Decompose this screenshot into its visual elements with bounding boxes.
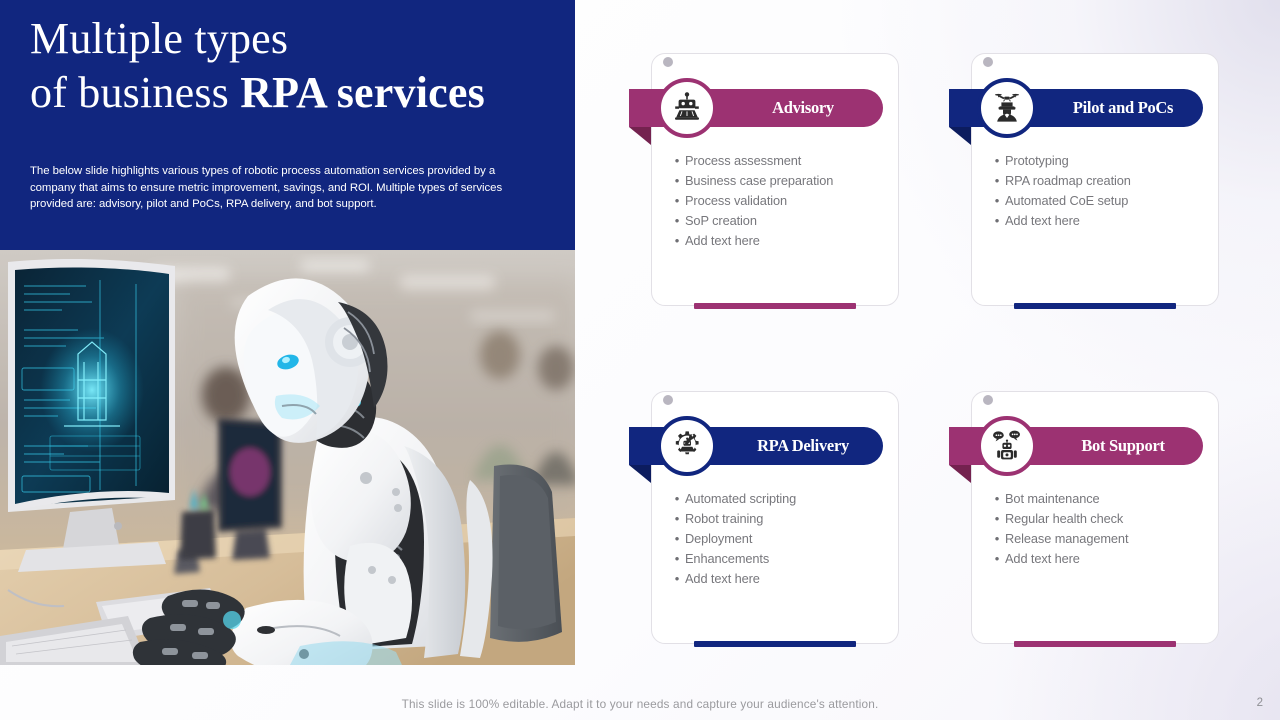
bullet-label: Prototyping bbox=[1005, 151, 1069, 170]
ribbon-fold bbox=[949, 127, 971, 145]
bullet-glyph: • bbox=[669, 191, 685, 210]
bullet-glyph: • bbox=[989, 509, 1005, 528]
card-bot-support[interactable]: Bot Support bbox=[971, 391, 1221, 656]
list-item: •Deployment bbox=[669, 529, 885, 548]
bullet-glyph: • bbox=[669, 489, 685, 508]
bullet-label: Process assessment bbox=[685, 151, 801, 170]
bullet-label: Add text here bbox=[685, 569, 760, 588]
list-item: •Process assessment bbox=[669, 151, 885, 170]
bullet-label: Robot training bbox=[685, 509, 763, 528]
bullet-label: Add text here bbox=[685, 231, 760, 250]
bullet-label: Process validation bbox=[685, 191, 787, 210]
bullet-glyph: • bbox=[989, 211, 1005, 230]
card-corner-dot bbox=[663, 395, 673, 405]
list-item: •Automated scripting bbox=[669, 489, 885, 508]
chat-robot-icon bbox=[977, 416, 1037, 476]
slide-subtitle: The below slide highlights various types… bbox=[30, 163, 542, 213]
card-rpa-delivery[interactable]: RPA Delivery bbox=[651, 391, 901, 656]
list-item: •Release management bbox=[989, 529, 1205, 548]
bullet-label: Add text here bbox=[1005, 211, 1080, 230]
list-item: •SoP creation bbox=[669, 211, 885, 230]
page-title: Multiple types of business RPA services bbox=[30, 12, 550, 120]
list-item: •Add text here bbox=[989, 549, 1205, 568]
list-item: •Add text here bbox=[669, 231, 885, 250]
ribbon-fold bbox=[949, 465, 971, 483]
card-advisory[interactable]: Advisory bbox=[651, 53, 901, 318]
bullet-glyph: • bbox=[989, 171, 1005, 190]
card-pilot-and-pocs-title: Pilot and PoCs bbox=[1043, 89, 1203, 127]
card-accent-bar bbox=[694, 641, 856, 647]
bullet-glyph: • bbox=[989, 549, 1005, 568]
bullet-label: Add text here bbox=[1005, 549, 1080, 568]
list-item: •Add text here bbox=[669, 569, 885, 588]
card-accent-bar bbox=[694, 303, 856, 309]
bullet-label: Bot maintenance bbox=[1005, 489, 1100, 508]
card-bot-support-bullets: •Bot maintenance •Regular health check •… bbox=[989, 489, 1205, 569]
bullet-label: Release management bbox=[1005, 529, 1128, 548]
robot-workstation-photo bbox=[0, 250, 575, 665]
bullet-label: Automated scripting bbox=[685, 489, 796, 508]
card-corner-dot bbox=[663, 57, 673, 67]
bullet-label: SoP creation bbox=[685, 211, 757, 230]
pilot-drone-icon bbox=[977, 78, 1037, 138]
bullet-glyph: • bbox=[989, 191, 1005, 210]
list-item: •Robot training bbox=[669, 509, 885, 528]
title-line-2: of business RPA services bbox=[30, 66, 550, 120]
list-item: •Add text here bbox=[989, 211, 1205, 230]
card-pilot-and-pocs[interactable]: Pilot and PoCs bbox=[971, 53, 1221, 318]
title-line-1: Multiple types bbox=[30, 14, 288, 63]
footer-note: This slide is 100% editable. Adapt it to… bbox=[0, 697, 1280, 711]
bullet-label: Business case preparation bbox=[685, 171, 833, 190]
slide-root: Multiple types of business RPA services … bbox=[0, 0, 1280, 720]
list-item: •RPA roadmap creation bbox=[989, 171, 1205, 190]
bullet-glyph: • bbox=[669, 509, 685, 528]
card-corner-dot bbox=[983, 57, 993, 67]
robot-icon bbox=[657, 78, 717, 138]
card-rpa-delivery-title: RPA Delivery bbox=[723, 427, 883, 465]
bullet-label: Automated CoE setup bbox=[1005, 191, 1128, 210]
bullet-glyph: • bbox=[669, 569, 685, 588]
list-item: •Bot maintenance bbox=[989, 489, 1205, 508]
ribbon-fold bbox=[629, 127, 651, 145]
list-item: •Automated CoE setup bbox=[989, 191, 1205, 210]
bullet-glyph: • bbox=[669, 211, 685, 230]
ribbon-fold bbox=[629, 465, 651, 483]
title-line-2-bold: RPA services bbox=[240, 68, 485, 117]
title-line-2-plain: of business bbox=[30, 68, 240, 117]
bullet-glyph: • bbox=[669, 529, 685, 548]
bullet-glyph: • bbox=[669, 231, 685, 250]
list-item: •Enhancements bbox=[669, 549, 885, 568]
list-item: •Prototyping bbox=[989, 151, 1205, 170]
list-item: •Regular health check bbox=[989, 509, 1205, 528]
list-item: •Process validation bbox=[669, 191, 885, 210]
card-rpa-delivery-bullets: •Automated scripting •Robot training •De… bbox=[669, 489, 885, 589]
bullet-label: Enhancements bbox=[685, 549, 769, 568]
list-item: •Business case preparation bbox=[669, 171, 885, 190]
bullet-label: Deployment bbox=[685, 529, 752, 548]
bullet-glyph: • bbox=[669, 171, 685, 190]
bullet-glyph: • bbox=[669, 549, 685, 568]
bullet-label: Regular health check bbox=[1005, 509, 1123, 528]
card-advisory-bullets: •Process assessment •Business case prepa… bbox=[669, 151, 885, 251]
bullet-glyph: • bbox=[989, 529, 1005, 548]
gear-robot-icon bbox=[657, 416, 717, 476]
bullet-glyph: • bbox=[989, 151, 1005, 170]
page-number: 2 bbox=[1257, 697, 1263, 709]
bullet-label: RPA roadmap creation bbox=[1005, 171, 1131, 190]
card-corner-dot bbox=[983, 395, 993, 405]
card-bot-support-title: Bot Support bbox=[1043, 427, 1203, 465]
title-panel: Multiple types of business RPA services … bbox=[0, 0, 575, 250]
card-accent-bar bbox=[1014, 641, 1176, 647]
card-pilot-and-pocs-bullets: •Prototyping •RPA roadmap creation •Auto… bbox=[989, 151, 1205, 231]
card-accent-bar bbox=[1014, 303, 1176, 309]
card-advisory-title: Advisory bbox=[723, 89, 883, 127]
bullet-glyph: • bbox=[989, 489, 1005, 508]
bullet-glyph: • bbox=[669, 151, 685, 170]
